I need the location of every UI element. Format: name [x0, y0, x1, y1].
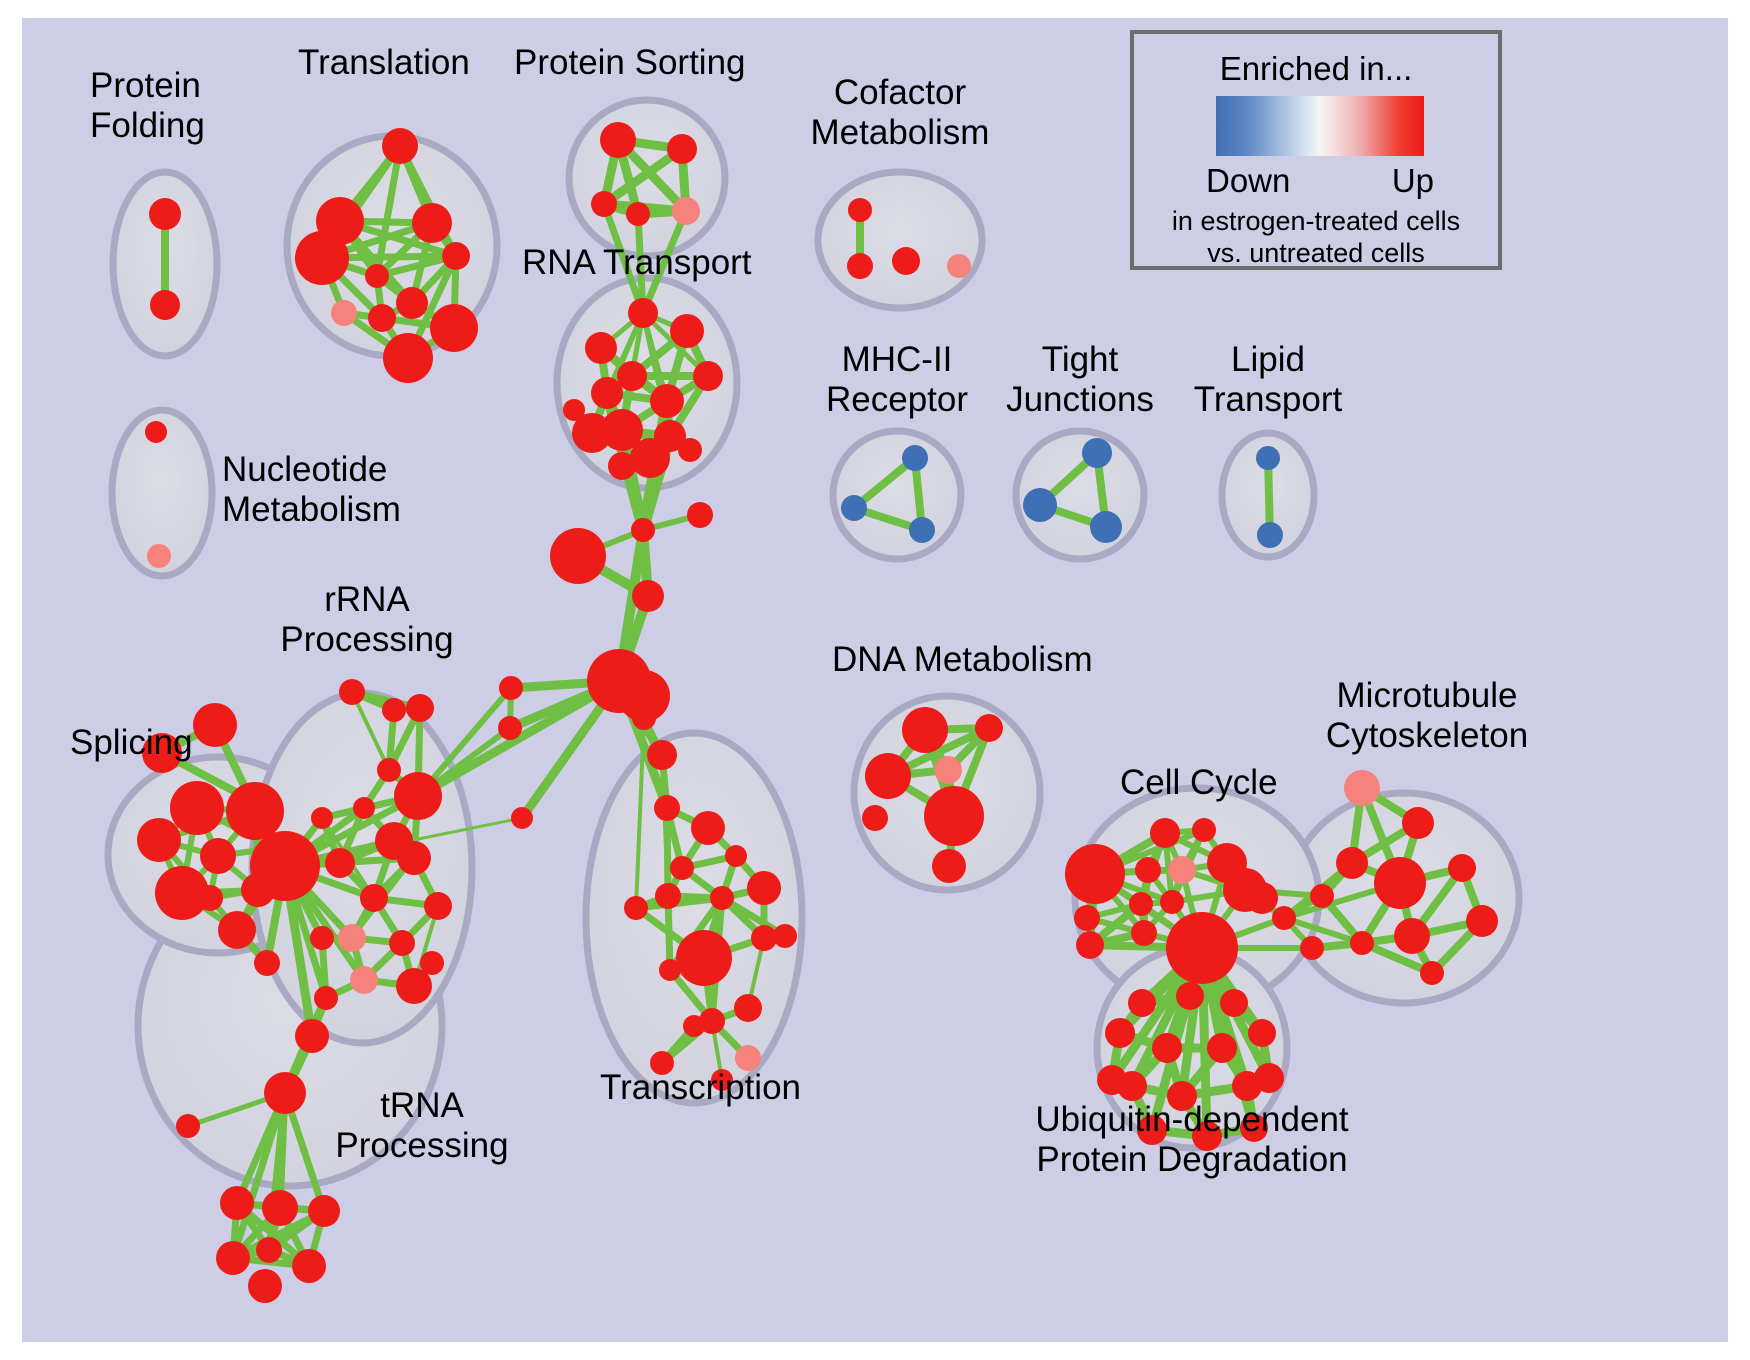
cluster-label-splicing: Splicing: [70, 723, 193, 763]
network-canvas: Protein Folding Translation Protein Sort…: [22, 18, 1728, 1342]
hull-transcription: [586, 733, 802, 1103]
legend-low-label: Down: [1206, 162, 1290, 200]
legend-high-label: Up: [1392, 162, 1434, 200]
cluster-label-transcription: Transcription: [600, 1068, 801, 1108]
legend-title: Enriched in...: [1134, 50, 1498, 88]
cluster-label-cell-cycle: Cell Cycle: [1120, 763, 1278, 803]
cluster-label-rrna-processing: rRNA Processing: [262, 580, 472, 660]
cluster-label-tight-junctions: Tight Junctions: [990, 340, 1170, 420]
figure-root: Protein Folding Translation Protein Sort…: [0, 0, 1750, 1360]
cluster-label-translation: Translation: [298, 43, 470, 83]
legend-panel: Enriched in... Down Up in estrogen-treat…: [1130, 30, 1502, 270]
hull-mhc-ii-receptor: [833, 431, 961, 559]
cluster-label-mhc-ii-receptor: MHC-II Receptor: [807, 340, 987, 420]
legend-caption-line1: in estrogen-treated cells: [1134, 206, 1498, 237]
cluster-label-dna-metabolism: DNA Metabolism: [832, 640, 1093, 680]
legend-caption-line2: vs. untreated cells: [1134, 238, 1498, 269]
cluster-label-lipid-transport: Lipid Transport: [1178, 340, 1358, 420]
cluster-label-protein-folding: Protein Folding: [90, 66, 205, 146]
cluster-label-microtubule-cytoskeleton: Microtubule Cytoskeleton: [1302, 676, 1552, 756]
cluster-label-cofactor-metabolism: Cofactor Metabolism: [800, 73, 1000, 153]
hull-cofactor-metabolism: [818, 172, 982, 308]
cluster-label-nucleotide-metabolism: Nucleotide Metabolism: [222, 450, 401, 530]
cluster-label-rna-transport: RNA Transport: [522, 243, 752, 283]
cluster-label-protein-sorting: Protein Sorting: [514, 43, 746, 83]
cluster-label-trna-processing: tRNA Processing: [312, 1086, 532, 1166]
legend-color-gradient-bar: [1216, 96, 1424, 156]
cluster-label-ubiquitin-protein-degradation: Ubiquitin-dependent Protein Degradation: [982, 1100, 1402, 1180]
